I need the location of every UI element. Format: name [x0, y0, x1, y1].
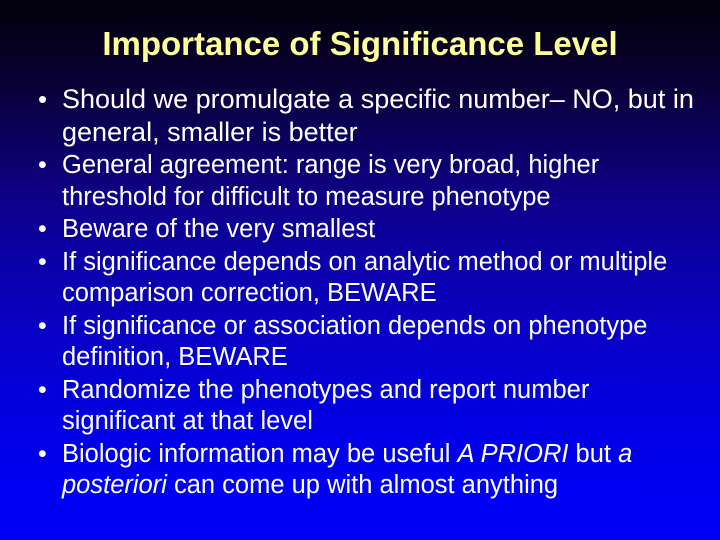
bullet-item: •Should we promulgate a specific number–…: [30, 83, 698, 149]
bullet-dot-icon: •: [30, 311, 62, 343]
bullet-text-plain: can come up with almost anything: [167, 471, 558, 499]
bullet-text-italic: A PRIORI: [457, 440, 568, 468]
bullet-item: •General agreement: range is very broad,…: [30, 150, 698, 213]
bullet-item: •Beware of the very smallest: [30, 214, 698, 246]
bullet-dot-icon: •: [30, 150, 62, 182]
bullet-text-plain: Biologic information may be useful: [62, 440, 457, 468]
bullet-text: Biologic information may be useful A PRI…: [62, 439, 698, 502]
bullet-item: •Randomize the phenotypes and report num…: [30, 375, 698, 438]
slide-canvas: Importance of Significance Level •Should…: [0, 0, 720, 540]
bullet-text-plain: but: [568, 440, 618, 468]
bullet-text: If significance or association depends o…: [62, 311, 698, 374]
bullet-text: Randomize the phenotypes and report numb…: [62, 375, 698, 438]
bullet-text: Beware of the very smallest: [62, 214, 698, 246]
bullet-dot-icon: •: [30, 375, 62, 407]
bullet-text: Should we promulgate a specific number– …: [62, 83, 698, 149]
bullet-item: •If significance depends on analytic met…: [30, 247, 698, 310]
bullet-list: •Should we promulgate a specific number–…: [30, 83, 698, 503]
slide-title: Importance of Significance Level: [0, 24, 720, 64]
bullet-dot-icon: •: [30, 83, 62, 116]
bullet-dot-icon: •: [30, 247, 62, 279]
bullet-item: •If significance or association depends …: [30, 311, 698, 374]
bullet-dot-icon: •: [30, 439, 62, 471]
bullet-dot-icon: •: [30, 214, 62, 246]
bullet-text: If significance depends on analytic meth…: [62, 247, 698, 310]
bullet-item: •Biologic information may be useful A PR…: [30, 439, 698, 502]
bullet-text: General agreement: range is very broad, …: [62, 150, 698, 213]
